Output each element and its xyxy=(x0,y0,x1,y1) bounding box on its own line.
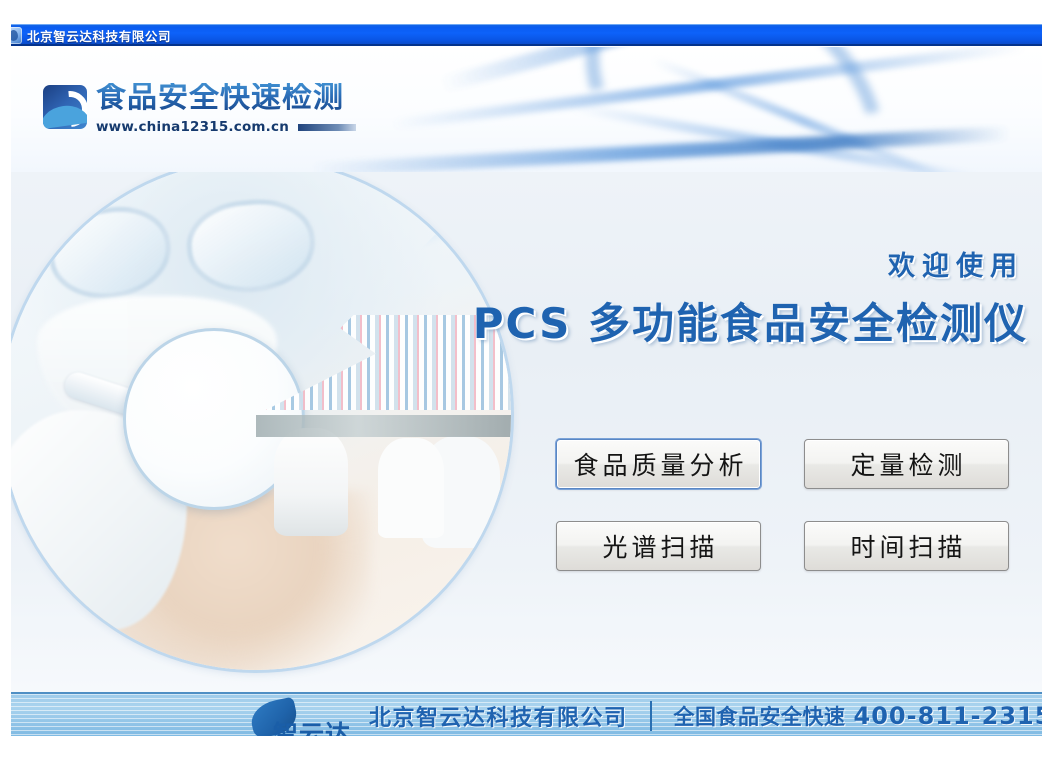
footer-hotline-number: 400-811-2315 xyxy=(854,702,1042,730)
footer-bar: 智云达 北京智云达科技有限公司 全国食品安全快速 400-811-2315 xyxy=(11,692,1042,736)
welcome-text: 欢迎使用 xyxy=(888,244,1024,283)
time-scan-button[interactable]: 时间扫描 xyxy=(804,521,1009,571)
footer-company-name: 北京智云达科技有限公司 xyxy=(369,700,628,732)
app-window-icon xyxy=(11,27,22,44)
lab-photo-collage xyxy=(11,172,511,670)
footer-hotline-label: 全国食品安全快速 xyxy=(674,701,846,731)
main-menu-buttons: 食品质量分析 定量检测 光谱扫描 时间扫描 xyxy=(556,439,1026,571)
brand-title: 食品安全快速检测 xyxy=(96,83,356,113)
safety-goggles-right xyxy=(183,195,319,298)
application-window: 北京智云达科技有限公司 食品安全快速检测 www.china12315.com.… xyxy=(0,0,1059,770)
brand-logo: 食品安全快速检测 www.china12315.com.cn xyxy=(43,83,356,135)
quantitative-detection-button[interactable]: 定量检测 xyxy=(804,439,1009,489)
footer-hotline: 全国食品安全快速 400-811-2315 xyxy=(674,701,1042,731)
hero-stage: 欢迎使用 PCS 多功能食品安全检测仪 食品质量分析 定量检测 光谱扫描 时间扫… xyxy=(11,172,1042,692)
header-banner: 食品安全快速检测 www.china12315.com.cn xyxy=(11,47,1042,172)
spectrum-scan-button[interactable]: 光谱扫描 xyxy=(556,521,761,571)
food-quality-analysis-button[interactable]: 食品质量分析 xyxy=(556,439,761,489)
footer-company-logo: 智云达 xyxy=(233,694,361,736)
brand-url-row: www.china12315.com.cn xyxy=(96,119,356,135)
brand-url: www.china12315.com.cn xyxy=(96,119,289,135)
brand-wordmark: 食品安全快速检测 www.china12315.com.cn xyxy=(96,83,356,135)
footer-divider xyxy=(650,701,652,731)
window-titlebar[interactable]: 北京智云达科技有限公司 xyxy=(11,24,1042,46)
safety-goggles-left xyxy=(43,199,178,307)
product-title: PCS 多功能食品安全检测仪 xyxy=(473,290,1028,351)
window-title: 北京智云达科技有限公司 xyxy=(27,26,171,45)
client-area: 食品安全快速检测 www.china12315.com.cn xyxy=(11,47,1042,736)
brand-url-accent-bar xyxy=(298,124,356,131)
wave-logo-icon xyxy=(43,85,87,129)
footer-logo-text: 智云达 xyxy=(273,715,351,736)
